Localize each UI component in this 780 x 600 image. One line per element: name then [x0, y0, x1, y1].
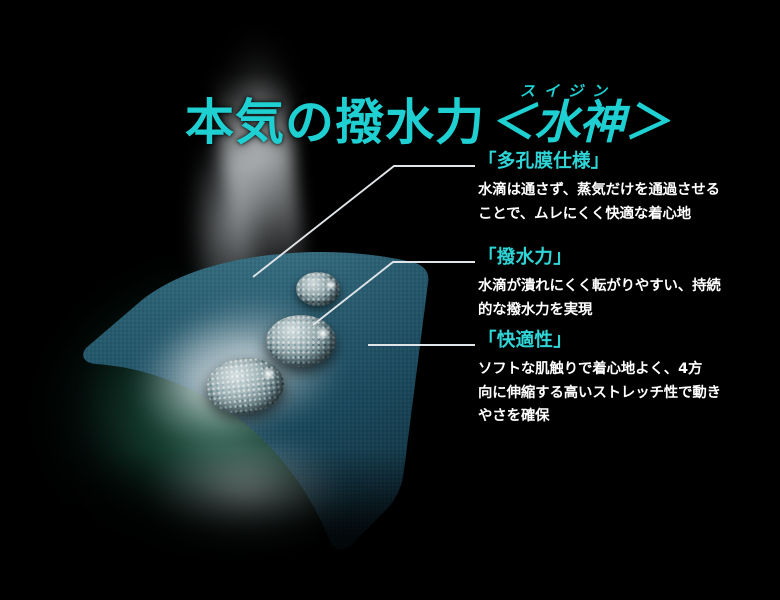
callout-body-line: ソフトな肌触りで着心地よく、4方	[478, 358, 721, 381]
callout-body-line: やさを確保	[478, 405, 721, 428]
callout-body: 水滴が潰れにくく転がりやすい、持続 的な撥水力を実現	[478, 275, 721, 322]
callout-water-repellency: 「撥水力」 水滴が潰れにくく転がりやすい、持続 的な撥水力を実現	[478, 248, 721, 322]
callout-body-line: 水滴が潰れにくく転がりやすい、持続	[478, 275, 721, 298]
page-title: 本気の撥水力	[185, 98, 485, 147]
callout-porous-membrane: 「多孔膜仕様」 水滴は通さず、蒸気だけを通過させる ことで、ムレにくく快適な着心…	[478, 152, 720, 226]
callout-heading: 「多孔膜仕様」	[478, 152, 720, 172]
title-subtitle-suijin: ＜水神＞	[489, 99, 669, 145]
callout-body-line: ことで、ムレにくく快適な着心地	[478, 203, 720, 226]
promo-graphic-canvas: 本気の撥水力 スイジン ＜水神＞ 「多孔膜仕様」 水滴は通さず、蒸気だけを通過さ…	[0, 0, 780, 600]
callout-body-line: 向に伸縮する高いストレッチ性で動き	[478, 382, 721, 405]
callout-comfort: 「快適性」 ソフトな肌触りで着心地よく、4方 向に伸縮する高いストレッチ性で動き…	[478, 331, 721, 428]
callout-body-line: 的な撥水力を実現	[478, 299, 721, 322]
callout-body: ソフトな肌触りで着心地よく、4方 向に伸縮する高いストレッチ性で動き やさを確保	[478, 358, 721, 428]
callout-heading: 「快適性」	[478, 331, 721, 351]
callout-body: 水滴は通さず、蒸気だけを通過させる ことで、ムレにくく快適な着心地	[478, 179, 720, 226]
title-block: 本気の撥水力 スイジン ＜水神＞	[0, 42, 780, 122]
callout-heading: 「撥水力」	[478, 248, 721, 268]
bottom-fade-overlay	[0, 450, 780, 600]
callout-body-line: 水滴は通さず、蒸気だけを通過させる	[478, 179, 720, 202]
